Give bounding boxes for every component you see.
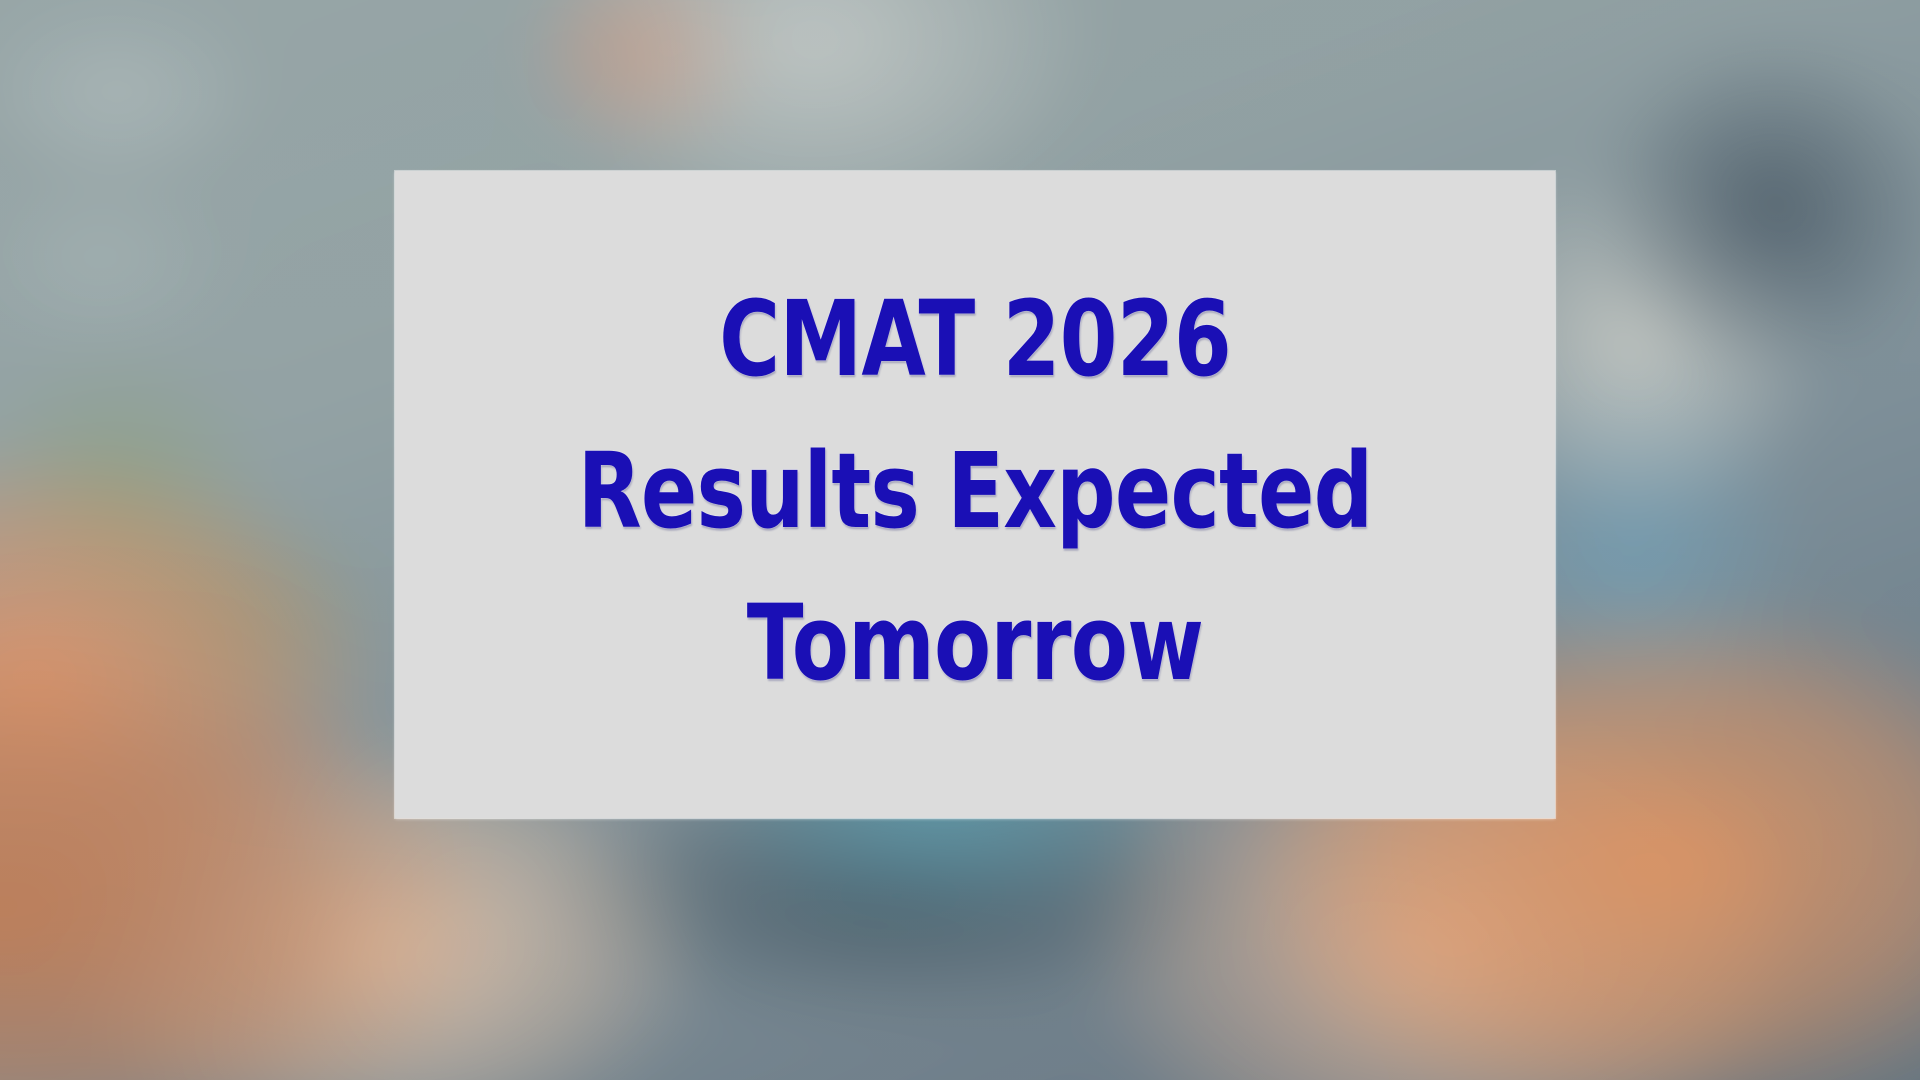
headline-line-1: CMAT 2026 (535, 287, 1415, 391)
headline-card: CMAT 2026 Results Expected Tomorrow (395, 171, 1555, 818)
headline-line-3: Tomorrow (535, 591, 1415, 695)
screenshot-stage: CMAT 2026 Results Expected Tomorrow (0, 0, 1920, 1080)
headline-line-2: Results Expected (535, 439, 1415, 543)
